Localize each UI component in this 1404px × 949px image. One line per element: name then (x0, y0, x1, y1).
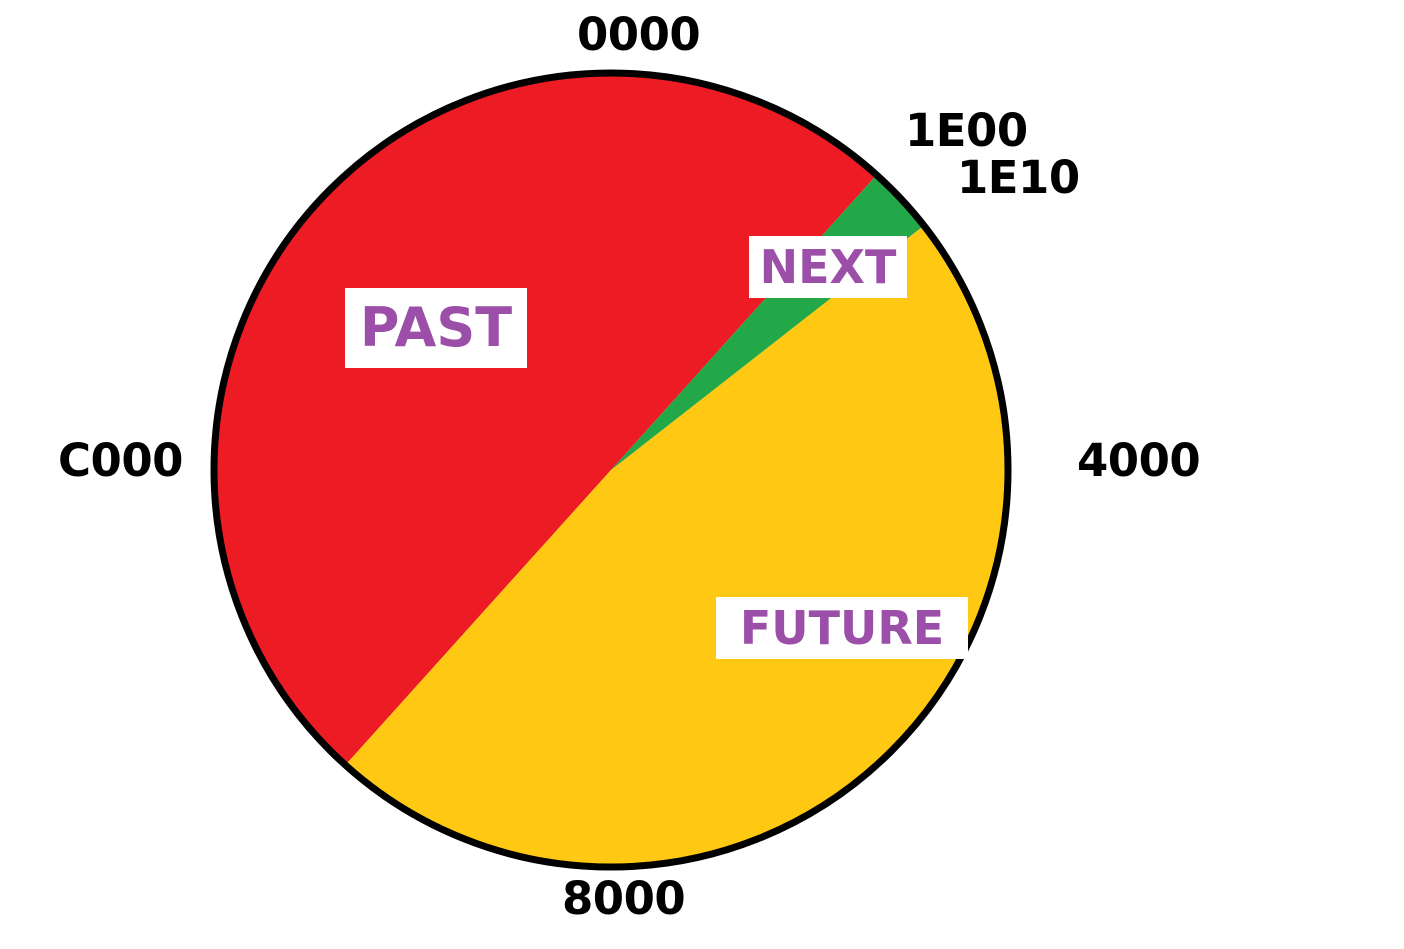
sector-label-future: FUTURE (716, 597, 968, 659)
axis-label-0000: 0000 (577, 12, 700, 57)
diagram-canvas: 0000 1E00 1E10 4000 8000 C000 PAST NEXT … (0, 0, 1404, 949)
sector-label-next: NEXT (749, 236, 907, 298)
axis-label-1e10: 1E10 (957, 155, 1080, 200)
axis-label-4000: 4000 (1077, 438, 1200, 483)
sector-label-past: PAST (345, 288, 527, 368)
axis-label-c000: C000 (58, 438, 183, 483)
axis-label-8000: 8000 (562, 876, 685, 921)
axis-label-1e00: 1E00 (905, 108, 1028, 153)
